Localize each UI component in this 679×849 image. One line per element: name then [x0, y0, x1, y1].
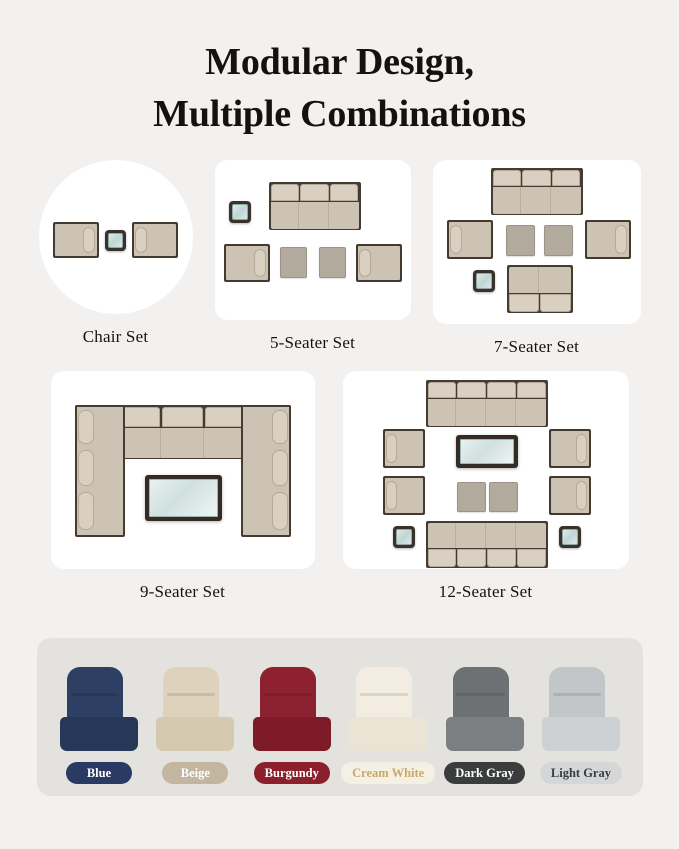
set-5-seater[interactable]: 5-Seater Set	[215, 160, 411, 353]
set-7-seater-label: 7-Seater Set	[494, 337, 579, 357]
armchair-right-lower	[549, 476, 591, 515]
set-9-seater-illustration	[51, 371, 315, 569]
coffee-table	[145, 475, 222, 521]
armchair-right-upper	[549, 429, 591, 468]
ottoman-right	[319, 247, 346, 278]
set-7-seater-illustration	[433, 160, 641, 324]
set-9-seater-label: 9-Seater Set	[140, 582, 225, 602]
ottoman-left	[280, 247, 307, 278]
side-table	[105, 230, 126, 251]
cushion-preview	[542, 667, 620, 753]
side-table	[229, 201, 251, 223]
color-swatch-row: Blue Beige Burgundy Cream White	[37, 638, 643, 796]
armchair-left-upper	[383, 429, 425, 468]
color-swatch-cream-white[interactable]: Cream White	[342, 667, 434, 784]
set-5-seater-label: 5-Seater Set	[270, 333, 355, 353]
color-options-panel: Blue Beige Burgundy Cream White	[37, 638, 643, 796]
cushion-preview	[253, 667, 331, 753]
ottoman-right	[544, 225, 573, 256]
color-swatch-beige[interactable]: Beige	[149, 667, 241, 784]
sofa-three-seat	[269, 182, 361, 230]
ottoman-right	[489, 482, 518, 512]
set-9-seater[interactable]: 9-Seater Set	[51, 371, 315, 602]
armchair-right	[585, 220, 631, 259]
armchair-left	[224, 244, 270, 282]
side-table-left	[393, 526, 415, 548]
cushion-preview	[446, 667, 524, 753]
set-5-seater-illustration	[215, 160, 411, 320]
page-title-line-1: Modular Design,	[0, 36, 679, 88]
set-12-seater-illustration	[343, 371, 629, 569]
color-label-cream-white[interactable]: Cream White	[341, 762, 435, 784]
set-7-seater[interactable]: 7-Seater Set	[433, 160, 641, 357]
side-table-right	[559, 526, 581, 548]
armchair-right	[132, 222, 178, 258]
sofa-four-seat-bottom	[426, 521, 548, 568]
ottoman-left	[506, 225, 535, 256]
coffee-table	[456, 435, 518, 468]
sets-row-2: 9-Seater Set	[0, 371, 679, 602]
set-chair[interactable]: Chair Set	[39, 160, 193, 347]
cushion-preview	[156, 667, 234, 753]
page-title: Modular Design, Multiple Combinations	[0, 0, 679, 140]
configuration-sets: Chair Set 5-Seater Set	[0, 160, 679, 602]
color-swatch-burgundy[interactable]: Burgundy	[246, 667, 338, 784]
color-label-burgundy[interactable]: Burgundy	[254, 762, 330, 784]
ottoman-left	[457, 482, 486, 512]
sectional-right-run	[241, 405, 291, 537]
sofa-three-seat-top	[491, 168, 583, 215]
color-swatch-light-gray[interactable]: Light Gray	[535, 667, 627, 784]
sectional-left-run	[75, 405, 125, 537]
sets-row-1: Chair Set 5-Seater Set	[0, 160, 679, 357]
loveseat-two-seat	[507, 265, 573, 313]
set-chair-label: Chair Set	[83, 327, 149, 347]
set-12-seater-label: 12-Seater Set	[439, 582, 533, 602]
color-label-blue[interactable]: Blue	[66, 762, 132, 784]
set-12-seater[interactable]: 12-Seater Set	[343, 371, 629, 602]
color-label-light-gray[interactable]: Light Gray	[540, 762, 622, 784]
set-chair-illustration	[39, 160, 193, 314]
armchair-right	[356, 244, 402, 282]
cushion-preview	[349, 667, 427, 753]
armchair-left	[53, 222, 99, 258]
cushion-preview	[60, 667, 138, 753]
color-label-dark-gray[interactable]: Dark Gray	[444, 762, 525, 784]
color-swatch-dark-gray[interactable]: Dark Gray	[439, 667, 531, 784]
sofa-four-seat-top	[426, 380, 548, 427]
armchair-left-lower	[383, 476, 425, 515]
side-table	[473, 270, 495, 292]
page-title-line-2: Multiple Combinations	[0, 88, 679, 140]
armchair-left	[447, 220, 493, 259]
color-label-beige[interactable]: Beige	[162, 762, 228, 784]
color-swatch-blue[interactable]: Blue	[53, 667, 145, 784]
